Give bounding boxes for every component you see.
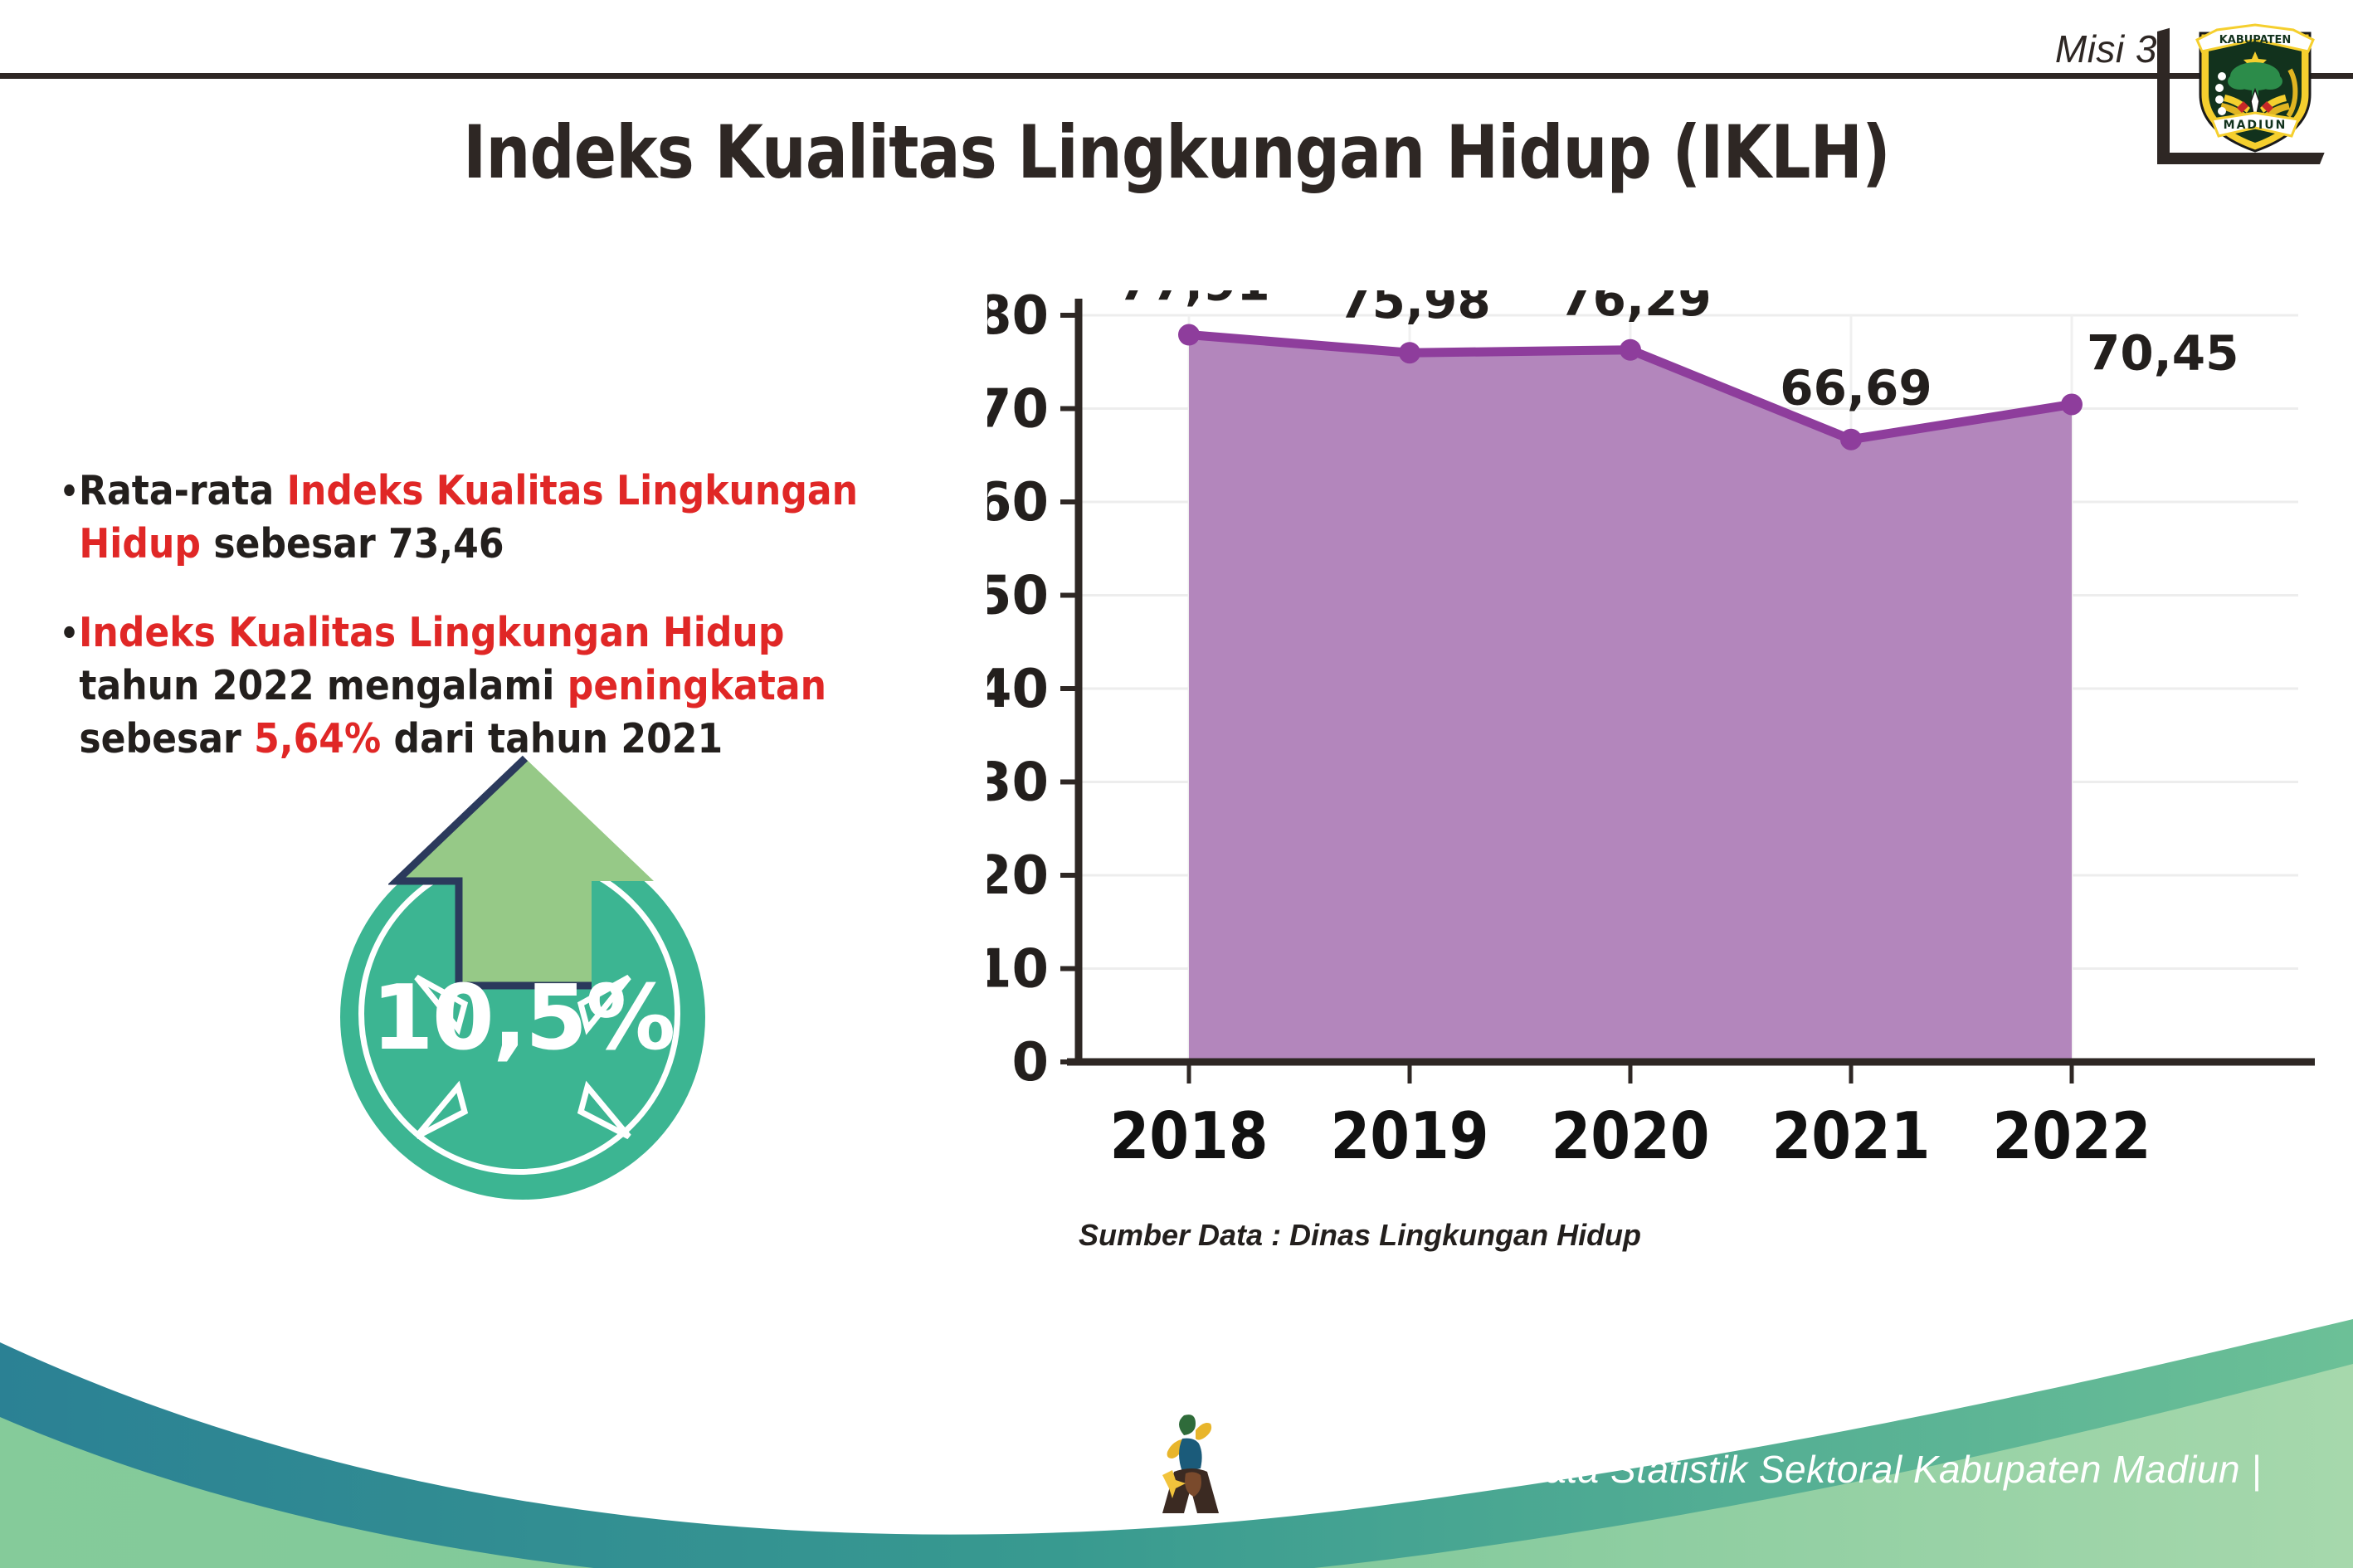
y-tick-label: 10 [987, 939, 1049, 1001]
x-tick-label: 2018 [1110, 1099, 1269, 1174]
logo-top-text: KABUPATEN [2219, 34, 2292, 46]
y-tick-label: 40 [987, 659, 1049, 720]
narrative-bullets: •Rata-rata Indeks Kualitas Lingkungan Hi… [60, 465, 874, 765]
mission-label: Misi 3 [2055, 27, 2157, 71]
badge-value: 10,5% [340, 967, 705, 1070]
page-title: Indeks Kualitas Lingkungan Hidup (IKLH) [165, 110, 2189, 195]
x-tick-label: 2020 [1552, 1099, 1710, 1174]
bullet-1-seg-1: Rata-rata [79, 467, 287, 514]
bullet-average-iklh: •Rata-rata Indeks Kualitas Lingkungan Hi… [60, 465, 874, 570]
data-label: 76,29 [1559, 290, 1711, 327]
y-tick-label: 80 [987, 290, 1049, 347]
chart-source-note: Sumber Data : Dinas Lingkungan Hidup [1079, 1218, 1641, 1253]
bullet-dot-icon: • [60, 473, 79, 511]
data-label: 77,91 [1118, 290, 1269, 312]
x-tick-label: 2022 [1993, 1099, 2151, 1174]
kabupaten-madiun-logo-icon: KABUPATEN MADIUN [2192, 15, 2318, 154]
header-divider [0, 73, 2353, 79]
bullet-2-seg-2: tahun 2022 mengalami [79, 662, 567, 709]
y-tick-label: 30 [987, 752, 1049, 814]
y-tick-label: 60 [987, 472, 1049, 533]
logo-bottom-text: MADIUN [2224, 119, 2287, 132]
footer-caption: Media Infografis Data Statistik Sektoral… [1228, 1447, 2262, 1492]
data-label: 75,98 [1338, 290, 1490, 329]
bullet-2-seg-1: Indeks Kualitas Lingkungan Hidup [79, 609, 784, 656]
bullet-dot-icon: • [60, 615, 79, 653]
y-tick-label: 20 [987, 845, 1049, 907]
y-tick-label: 0 [1011, 1032, 1049, 1093]
data-label: 66,69 [1780, 360, 1932, 416]
data-label: 70,45 [2087, 324, 2239, 381]
x-tick-label: 2021 [1772, 1099, 1931, 1174]
y-tick-label: 70 [987, 379, 1049, 441]
bullet-2-seg-4: sebesar [79, 715, 254, 762]
media-infografis-figure-icon [1149, 1410, 1232, 1517]
x-tick-label: 2019 [1331, 1099, 1489, 1174]
y-tick-label: 50 [987, 566, 1049, 627]
bullet-1-seg-3: sebesar 73,46 [201, 520, 504, 567]
bullet-2-seg-3: peningkatan [568, 662, 826, 709]
infographic-slide: Misi 3 KABUPATEN [0, 0, 2353, 1568]
growth-badge: 10,5% [324, 755, 755, 1203]
iklh-area-chart: 77,9175,9876,2966,6970,45010203040506070… [987, 290, 2331, 1220]
bullet-increase-2022: •Indeks Kualitas Lingkungan Hidup tahun … [60, 606, 874, 765]
